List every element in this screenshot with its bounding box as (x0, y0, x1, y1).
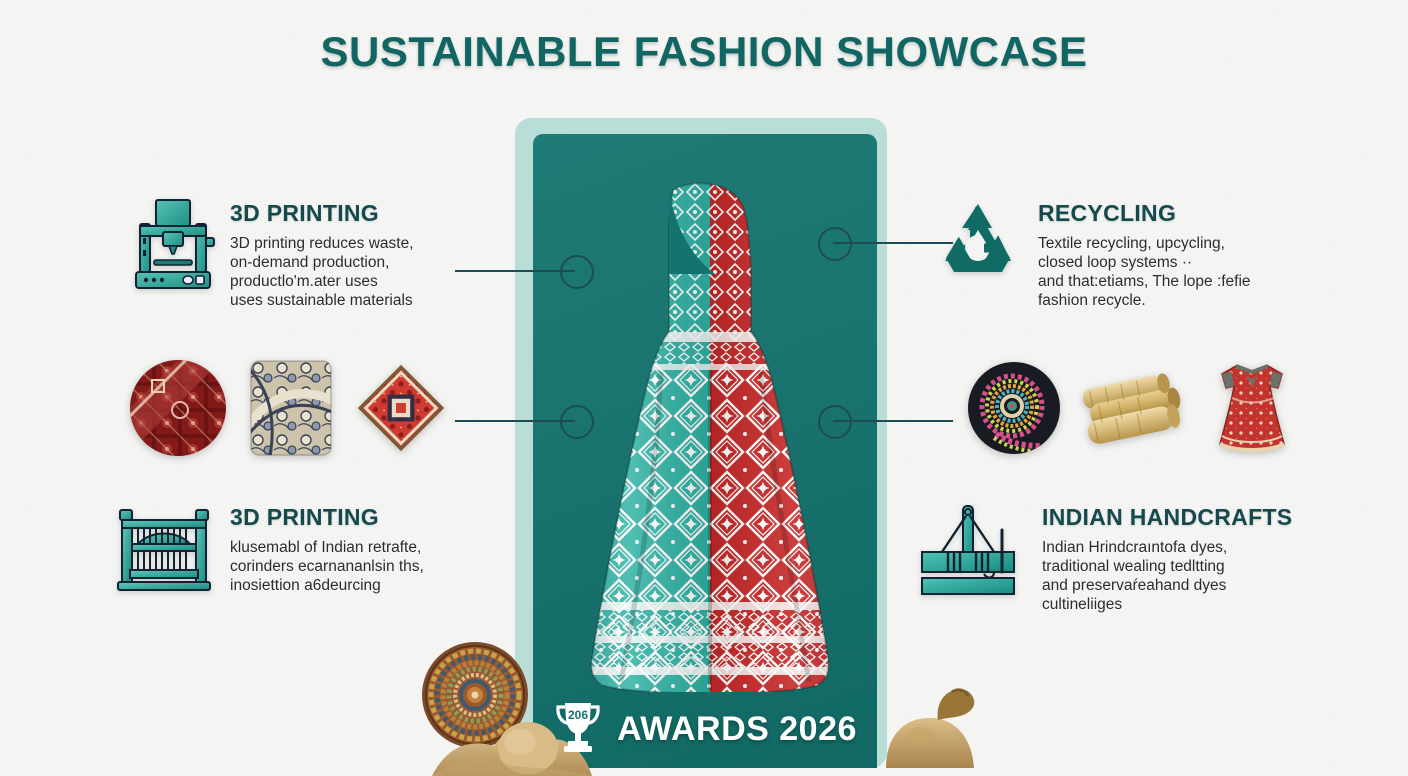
beige-navy-paisley-swatch[interactable] (250, 360, 332, 456)
swatch-row-left (128, 358, 448, 458)
natural-dye-powder-right (880, 672, 1020, 768)
feature-3d-printing-bottom[interactable]: 3D PRINTING klusemabl of Indian retrafte… (112, 500, 424, 601)
red-printed-frock[interactable] (1206, 358, 1298, 458)
page-title: SUSTAINABLE FASHION SHOWCASE (0, 28, 1408, 76)
feature-text: INDIAN HANDCRAFTS Indian Hrindcraıntofa … (1042, 500, 1292, 615)
charkha-loom-icon (908, 500, 1028, 605)
feature-body: klusemabl of Indian retrafte, corinders … (230, 539, 424, 596)
recycle-icon (932, 196, 1024, 293)
trophy-icon: 206 (553, 699, 603, 760)
feature-body: Textile recycling, upcycling, closed loo… (1038, 235, 1251, 311)
golden-fabric-rolls[interactable] (1080, 362, 1188, 454)
feature-text: RECYCLING Textile recycling, upcycling, … (1038, 196, 1251, 311)
awards-label: AWARDS 2026 (617, 710, 857, 749)
handloom-icon (112, 500, 216, 601)
feature-text: 3D PRINTING klusemabl of Indian retrafte… (230, 500, 424, 596)
feature-heading: 3D PRINTING (230, 504, 424, 531)
feature-body: 3D printing reduces waste, on-demand pro… (230, 235, 414, 311)
feature-heading: RECYCLING (1038, 200, 1251, 227)
feature-heading: INDIAN HANDCRAFTS (1042, 504, 1292, 531)
feature-3d-printing-top[interactable]: 3D PRINTING 3D printing reduces waste, o… (130, 196, 414, 311)
3d-printer-icon (130, 196, 216, 301)
red-medallion-swatch[interactable] (354, 361, 448, 455)
split-panel-block-print-dress (565, 182, 855, 692)
awards-banner: 206 AWARDS 2026 (533, 690, 877, 768)
trophy-inscription: 206 (568, 708, 588, 722)
embroidered-medallion-swatch[interactable] (966, 360, 1062, 456)
feature-body: Indian Hrindcraıntofa dyes, traditional … (1042, 539, 1292, 615)
swatch-row-right (966, 358, 1298, 458)
feature-heading: 3D PRINTING (230, 200, 414, 227)
dark-red-block-print-swatch[interactable] (128, 358, 228, 458)
feature-recycling[interactable]: RECYCLING Textile recycling, upcycling, … (932, 196, 1251, 311)
feature-text: 3D PRINTING 3D printing reduces waste, o… (230, 196, 414, 311)
feature-indian-handcrafts[interactable]: INDIAN HANDCRAFTS Indian Hrindcraıntofa … (908, 500, 1292, 615)
